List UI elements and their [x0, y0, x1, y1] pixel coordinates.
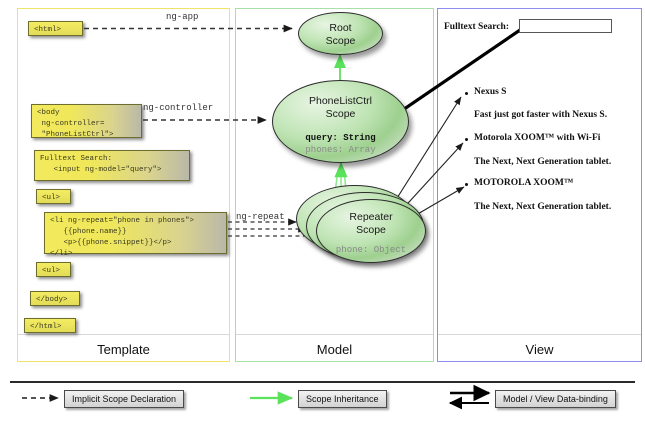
panel-template-title: Template [18, 342, 229, 357]
view-item-snippet: Fast just got faster with Nexus S. [474, 110, 607, 120]
phonelistctrl-prop-phones: phones: Array [273, 144, 408, 156]
label-ng-app: ng-app [166, 12, 198, 22]
view-search-input[interactable] [519, 19, 612, 33]
root-scope-title: Root Scope [299, 22, 382, 47]
view-item-name: MOTOROLA XOOM™ [474, 178, 573, 188]
panel-view-title: View [438, 342, 641, 357]
legend-divider [10, 381, 635, 383]
panel-model-title: Model [236, 342, 433, 357]
view-item-name: Nexus S [474, 87, 506, 97]
repeater-scope-title: Repeater Scope [317, 211, 425, 236]
legend-label-scope-inheritance: Scope Inheritance [298, 390, 387, 408]
legend-icon-databinding-arrow [450, 393, 489, 403]
code-box-search-input: Fulltext Search: <input ng-model="query"… [34, 150, 190, 181]
view-bullet [465, 183, 468, 186]
code-box-ul-open: <ul> [36, 189, 71, 204]
ellipse-phonelistctrl-scope: PhoneListCtrl Scope query: String phones… [272, 80, 409, 163]
code-box-html-close: </html> [24, 318, 76, 333]
code-box-ul-close: <ul> [36, 262, 71, 277]
ellipse-repeater-scope: Repeater Scope phone: Object [316, 199, 426, 263]
view-search-label: Fulltext Search: [444, 22, 509, 32]
code-box-html-open: <html> [28, 21, 83, 36]
view-bullet [465, 138, 468, 141]
panel-template: Template [17, 8, 230, 362]
legend-label-model-view-data-binding: Model / View Data-binding [495, 390, 616, 408]
phonelistctrl-scope-title: PhoneListCtrl Scope [273, 95, 408, 120]
diagram-root: Template Model View <html> <body ng-cont… [0, 0, 645, 425]
panel-model: Model [235, 8, 434, 362]
panel-template-separator [18, 334, 229, 335]
panel-model-separator [236, 334, 433, 335]
view-item-name: Motorola XOOM™ with Wi-Fi [474, 133, 600, 143]
panel-view-separator [438, 334, 641, 335]
phonelistctrl-prop-query: query: String [273, 132, 408, 144]
view-item-snippet: The Next, Next Generation tablet. [474, 157, 611, 167]
legend-label-implicit-scope-declaration: Implicit Scope Declaration [64, 390, 184, 408]
code-box-body-close: </body> [30, 291, 80, 306]
code-box-body-open: <body ng-controller= "PhoneListCtrl"> [31, 104, 142, 138]
repeater-scope-prop-phone: phone: Object [317, 244, 425, 256]
view-item-snippet: The Next, Next Generation tablet. [474, 202, 611, 212]
code-box-li-ng-repeat: <li ng-repeat="phone in phones"> {{phone… [44, 212, 227, 254]
ellipse-root-scope: Root Scope [298, 12, 383, 55]
label-ng-repeat: ng-repeat [236, 212, 285, 222]
label-ng-controller: ng-controller [143, 103, 213, 113]
view-bullet [465, 92, 468, 95]
